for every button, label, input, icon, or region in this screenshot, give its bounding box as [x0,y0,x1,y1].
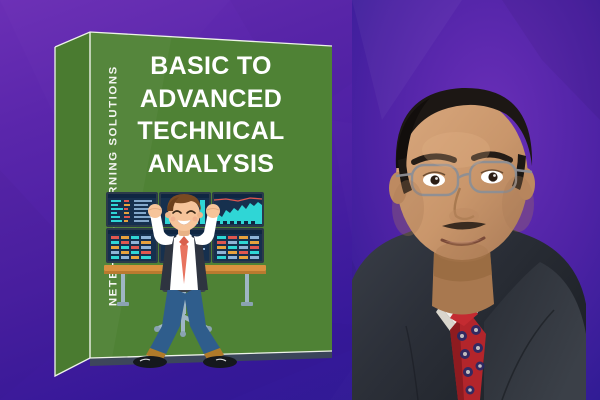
box-title-line-4: ANALYSIS [96,148,326,181]
instructor-portrait [352,0,600,400]
box-title-line-1: BASIC TO [96,50,326,83]
trader-illustration [104,186,319,368]
trader-illustration-svg [104,186,319,368]
monitor-bottom-left [106,228,158,263]
box-title: BASIC TO ADVANCED TECHNICAL ANALYSIS [96,50,326,180]
monitor-bottom-right [212,228,264,263]
product-box: NETBHET E-LEARNING SOLUTIONS BASIC TO AD… [52,28,332,378]
instructor-portrait-svg [352,0,600,400]
box-title-line-2: ADVANCED [96,83,326,116]
course-thumbnail-canvas: NETBHET E-LEARNING SOLUTIONS BASIC TO AD… [0,0,600,400]
box-title-line-3: TECHNICAL [96,115,326,148]
